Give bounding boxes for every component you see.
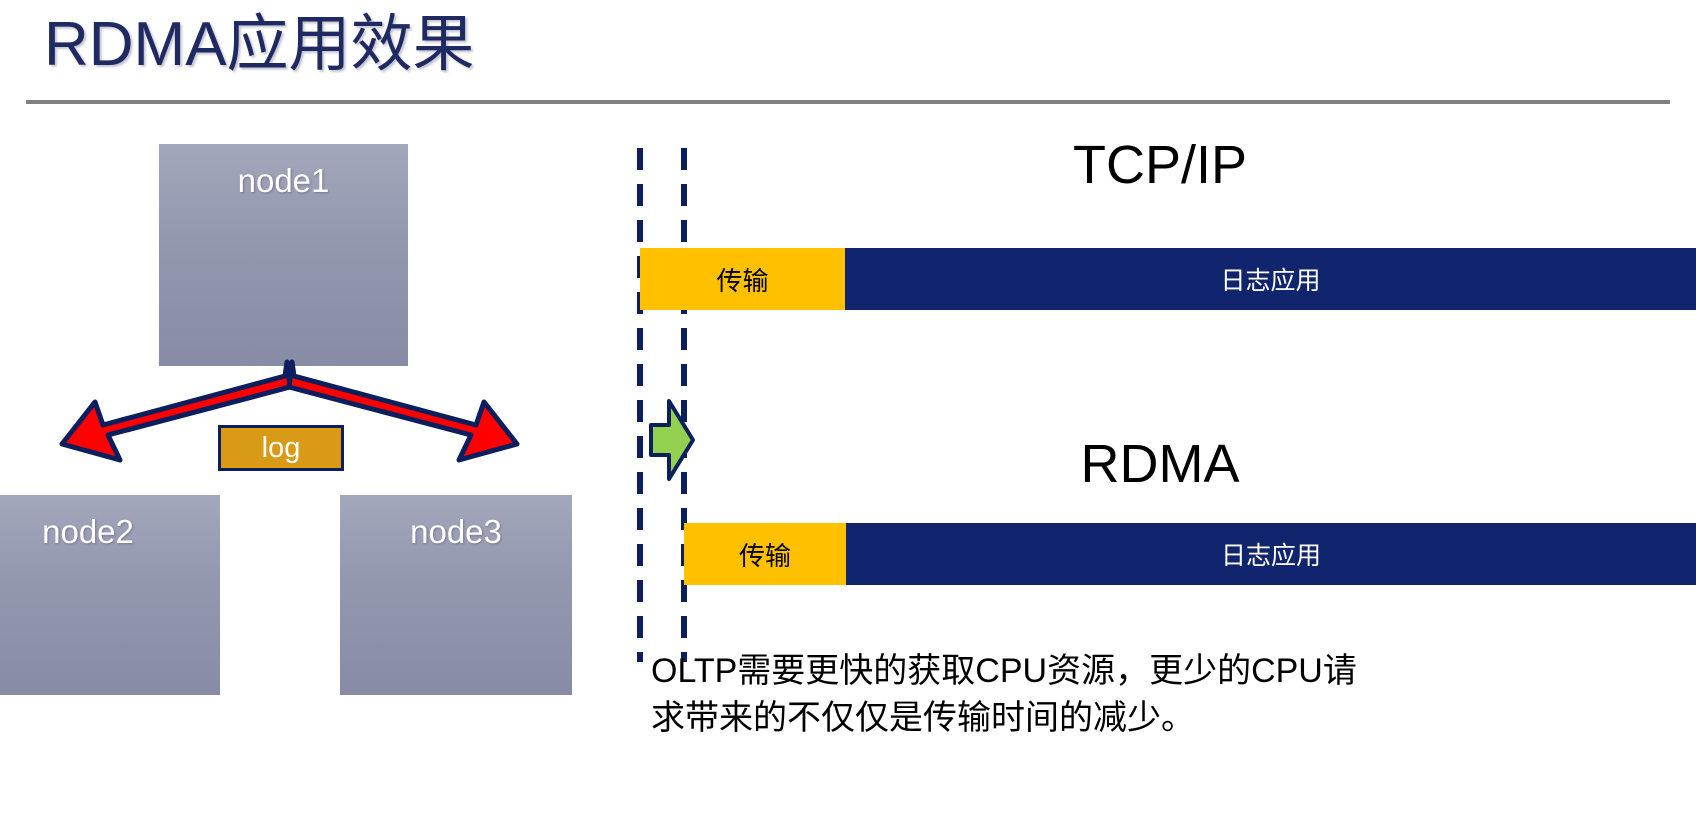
caption-text: OLTP需要更快的获取CPU资源，更少的CPU请 求带来的不仅仅是传输时间的减少… — [651, 648, 1691, 742]
improvement-arrow-icon — [648, 398, 696, 482]
slide-canvas: RDMA应用效果 node1 node2 node3 log TCP/IP 传输… — [0, 0, 1696, 826]
timeline-bar-tcpip: 传输 日志应用 — [640, 248, 1696, 310]
timeline-bar-rdma: 传输 日志应用 — [684, 523, 1696, 585]
node-box-node1: node1 — [159, 144, 408, 366]
page-title: RDMA应用效果 — [44, 6, 475, 84]
caption-line-1: OLTP需要更快的获取CPU资源，更少的CPU请 — [651, 648, 1691, 695]
segment-application-tcpip: 日志应用 — [845, 248, 1696, 310]
log-box: log — [218, 425, 344, 471]
segment-application-rdma: 日志应用 — [846, 523, 1696, 585]
title-divider — [26, 100, 1670, 104]
node2-label: node2 — [0, 495, 220, 551]
log-box-label: log — [262, 432, 301, 464]
node3-label: node3 — [340, 495, 572, 551]
replication-arrows-icon — [0, 340, 600, 500]
node-box-node3: node3 — [340, 495, 572, 695]
segment-transport-tcpip: 传输 — [640, 248, 845, 310]
node1-label: node1 — [159, 144, 408, 200]
node-box-node2: node2 — [0, 495, 220, 695]
segment-transport-rdma: 传输 — [684, 523, 846, 585]
protocol-label-tcpip: TCP/IP — [760, 134, 1560, 196]
protocol-label-rdma: RDMA — [760, 433, 1560, 495]
caption-line-2: 求带来的不仅仅是传输时间的减少。 — [651, 695, 1691, 742]
guide-line-start — [637, 148, 643, 662]
